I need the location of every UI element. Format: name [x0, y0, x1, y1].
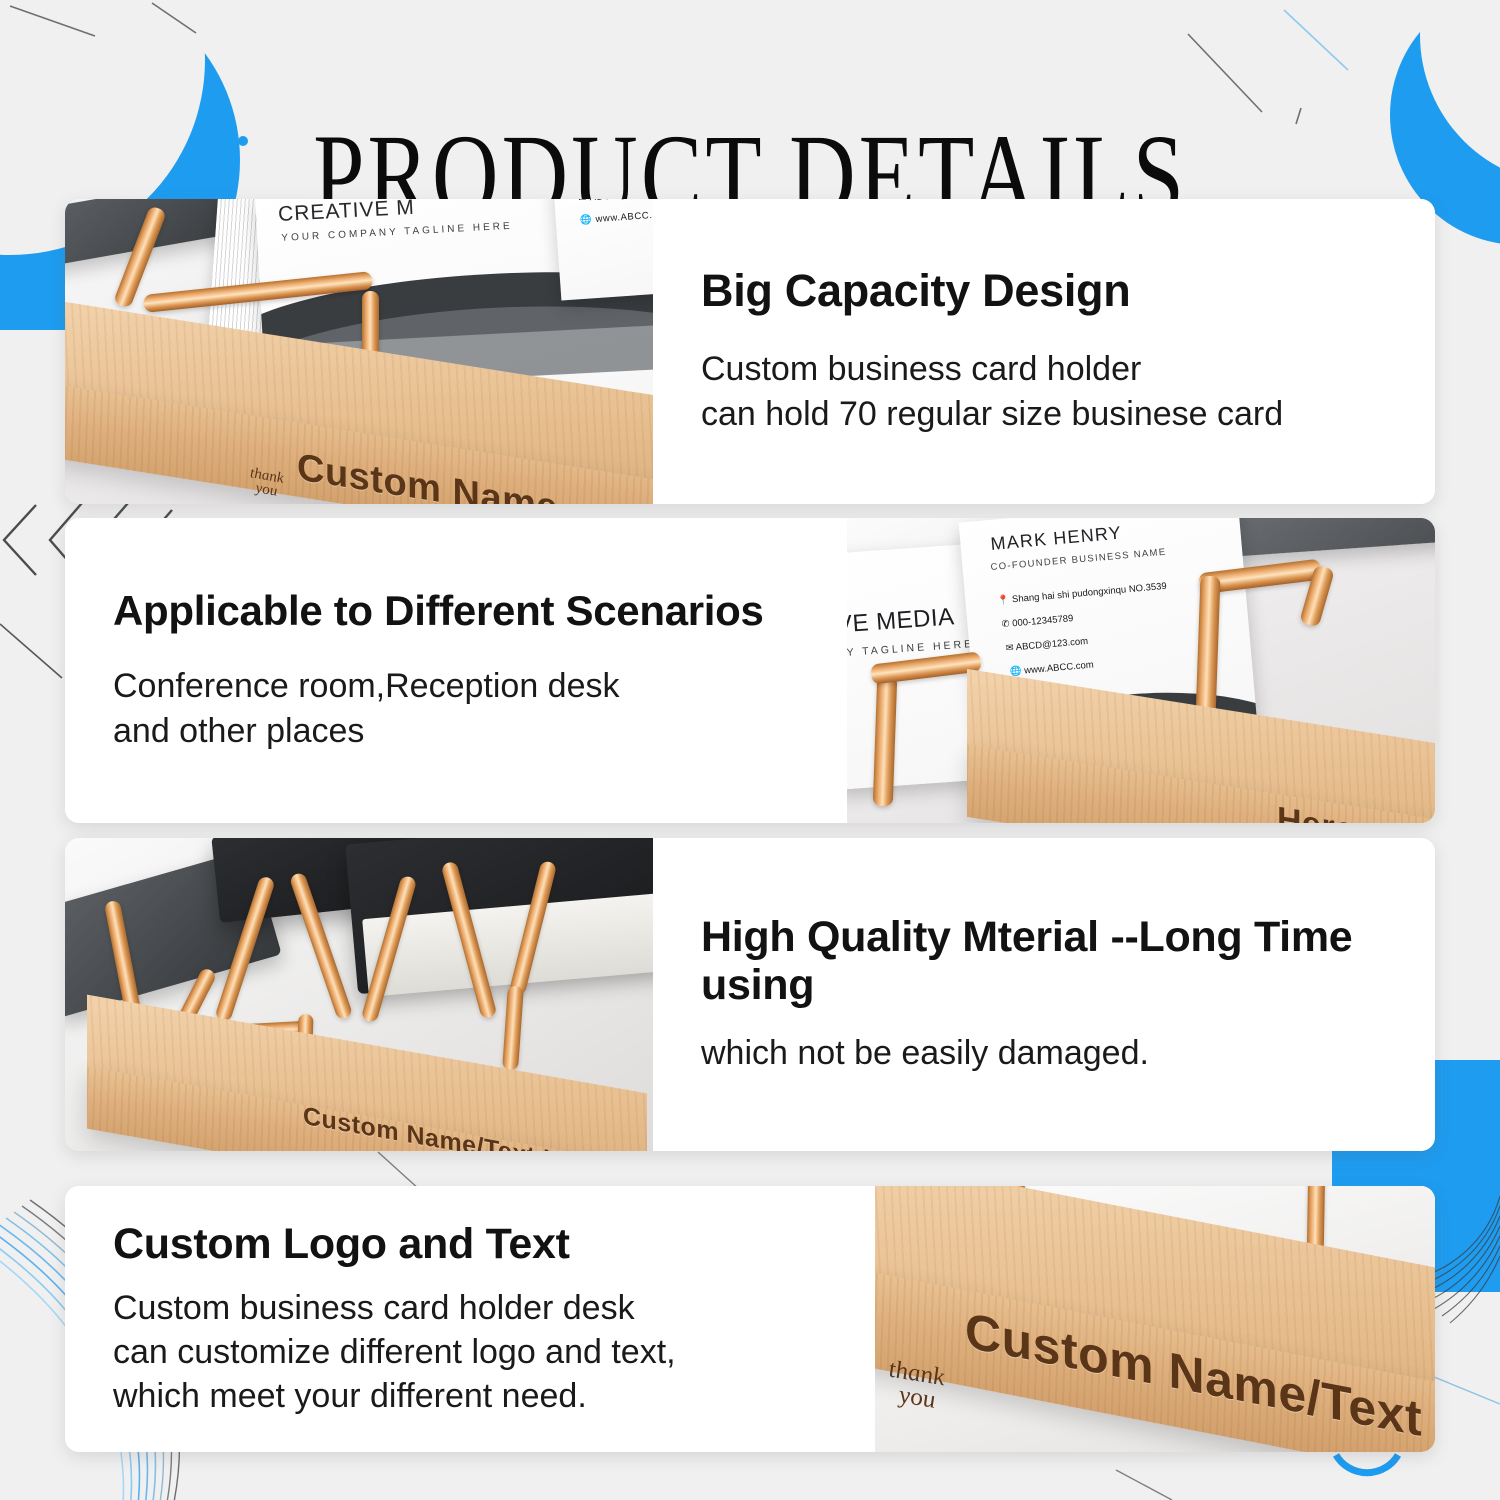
panel-3-heading: High Quality Mterial --Long Time using [701, 913, 1435, 1009]
feature-panel-quality: Custom Name/Text Here High Quality Mteri… [65, 838, 1435, 1151]
panel-2-heading: Applicable to Different Scenarios [113, 587, 847, 634]
panel-4-body-line-2: can customize different logo and text, [113, 1330, 875, 1374]
card-holder-full-of-cards-photo: CREATIVE M YOUR COMPANY TAGLINE HERE ✉ A… [65, 199, 653, 504]
panel-4-body-line-3: which meet your different need. [113, 1374, 875, 1418]
panel-1-text-block: Big Capacity Design Custom business card… [653, 199, 1435, 504]
panel-4-heading: Custom Logo and Text [113, 1220, 875, 1268]
panel-3-body: which not be easily damaged. [701, 1031, 1435, 1076]
panel-2-text-block: Applicable to Different Scenarios Confer… [65, 518, 847, 823]
panel-3-body-line-1: which not be easily damaged. [701, 1031, 1435, 1076]
panel-3-heading-line-1: High Quality Mterial [701, 913, 1099, 961]
panel-2-body-line-2: and other places [113, 709, 847, 754]
thank-you-logo-line-2: you [899, 1381, 936, 1414]
panel-4-body: Custom business card holder desk can cus… [113, 1286, 875, 1419]
feature-panel-big-capacity: CREATIVE M YOUR COMPANY TAGLINE HERE ✉ A… [65, 199, 1435, 504]
panel-1-heading: Big Capacity Design [701, 266, 1435, 316]
engraved-wood-base-closeup-photo: thank you Custom Name/Text Here [875, 1186, 1435, 1452]
feature-panel-scenarios: VE MEDIA NY TAGLINE HERE MARK HENRY CO-F… [65, 518, 1435, 823]
feature-panel-custom-logo: thank you Custom Name/Text Here Custom L… [65, 1186, 1435, 1452]
panel-1-body-line-2: can hold 70 regular size businese card [701, 392, 1435, 437]
panel-3-text-block: High Quality Mterial --Long Time using w… [653, 838, 1435, 1151]
panel-2-body-line-1: Conference room,Reception desk [113, 664, 847, 709]
blue-circle-outline-bottom-right [1336, 1455, 1398, 1473]
thank-you-logo: thankyou [250, 466, 284, 500]
infographic-canvas: PRODUCT DETAILS CREATIVE M YOUR COMPANY … [0, 0, 1500, 1500]
panel-4-body-line-1: Custom business card holder desk [113, 1286, 875, 1330]
panel-1-body-line-1: Custom business card holder [701, 347, 1435, 392]
thank-you-logo: thank you [888, 1357, 945, 1414]
empty-zigzag-wire-holder-photo: Custom Name/Text Here [65, 838, 653, 1151]
panel-2-body: Conference room,Reception desk and other… [113, 664, 847, 754]
card-holder-closeup-business-card-photo: VE MEDIA NY TAGLINE HERE MARK HENRY CO-F… [847, 518, 1435, 823]
panel-4-text-block: Custom Logo and Text Custom business car… [65, 1186, 875, 1452]
panel-1-body: Custom business card holder can hold 70 … [701, 347, 1435, 437]
